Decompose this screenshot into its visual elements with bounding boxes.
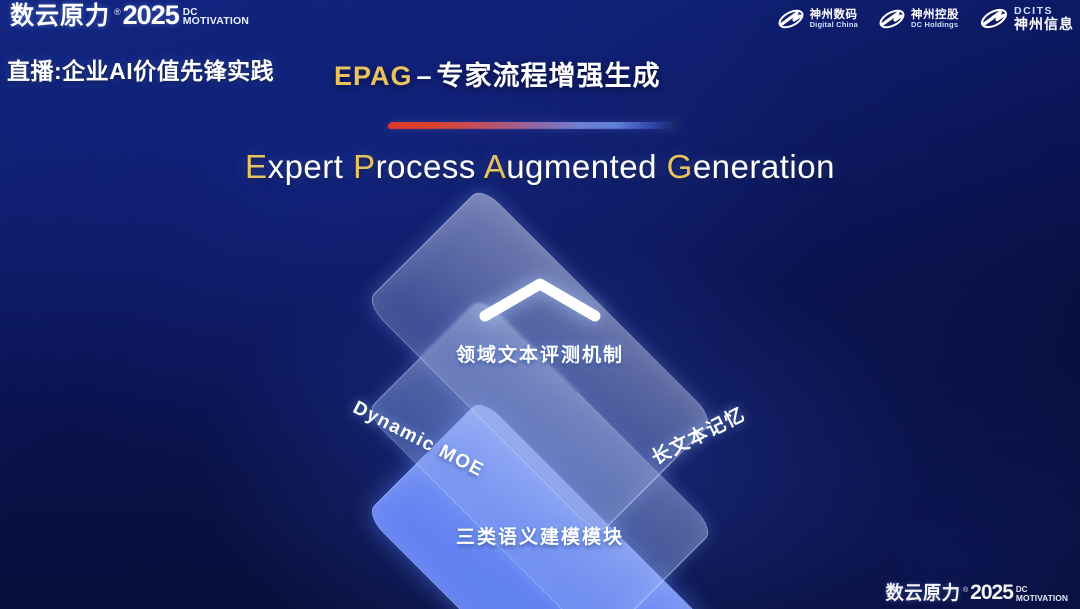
subtitle-rest: eneration [693,148,835,185]
subtitle-cap: A [484,148,507,185]
partner-text: 神州数码 Digital China [810,9,858,29]
subtitle: Expert Process Augmented Generation [0,148,1080,186]
subtitle-cap: E [245,148,268,185]
subtitle-word-augmented: Augmented [484,148,657,185]
watermark-name-cn: 数云原力 [886,584,961,603]
stack-layer-top [375,196,705,526]
chevron-up-icon [477,274,603,324]
subtitle-rest: xpert [268,148,344,185]
subtitle-word-generation: Generation [667,148,835,185]
footer-watermark: 数云原力 ® 2025 DC MOTIVATION [884,582,1068,603]
stack-layer-top-surface [365,186,715,536]
watermark-year: 2025 [970,582,1013,603]
brand-dc-line2: MOTIVATION [183,17,249,27]
partner-logo-dc-holdings: 神州控股 DC Holdings [878,8,959,30]
subtitle-rest: rocess [376,148,476,185]
swoosh-logo-icon [878,8,906,30]
title-acronym: EPAG [334,61,413,91]
watermark-dc-line2: MOTIVATION [1016,594,1068,602]
swoosh-logo-icon [777,8,805,30]
partner-name-cn: 神州信息 [1014,17,1074,32]
partner-name-en: Digital China [810,21,858,29]
partner-text: 神州控股 DC Holdings [911,9,959,29]
registered-mark-icon: ® [114,8,121,17]
brand-lockup: 数云原力 ® 2025 DC MOTIVATION [8,2,249,29]
brand-year: 2025 [123,2,179,29]
title-dash: – [413,61,437,91]
watermark-dc-motivation: DC MOTIVATION [1016,586,1068,602]
title-chinese: 专家流程增强生成 [437,61,661,91]
watermark-registered-mark-icon: ® [963,587,968,594]
brand-dc-motivation: DC MOTIVATION [183,8,249,27]
partner-name-en: DC Holdings [911,21,959,29]
partner-logo-digital-china: 神州数码 Digital China [777,8,858,30]
partner-logo-group: 神州数码 Digital China 神州控股 DC Holdings DCIT… [777,6,1074,32]
partner-text: DCITS 神州信息 [1014,6,1074,32]
subtitle-rest: ugmented [506,148,657,185]
subtitle-cap: G [667,148,693,185]
swoosh-logo-icon [979,7,1009,30]
gradient-divider [387,122,681,129]
slide-canvas: 数云原力 ® 2025 DC MOTIVATION 直播:企业AI价值先锋实践 … [0,0,1080,609]
subtitle-cap: P [353,148,376,185]
partner-logo-dcits: DCITS 神州信息 [979,6,1074,32]
subtitle-word-process: Process [353,148,476,185]
subtitle-word-expert: Expert [245,148,343,185]
page-title: EPAG–专家流程增强生成 [334,54,661,93]
brand-name-cn: 数云原力 [10,4,110,29]
live-broadcast-label: 直播:企业AI价值先锋实践 [7,52,274,86]
layered-stack-diagram: 领域文本评测机制 Dynamic MOE 长文本记忆 三类语义建模模块 [290,232,790,582]
